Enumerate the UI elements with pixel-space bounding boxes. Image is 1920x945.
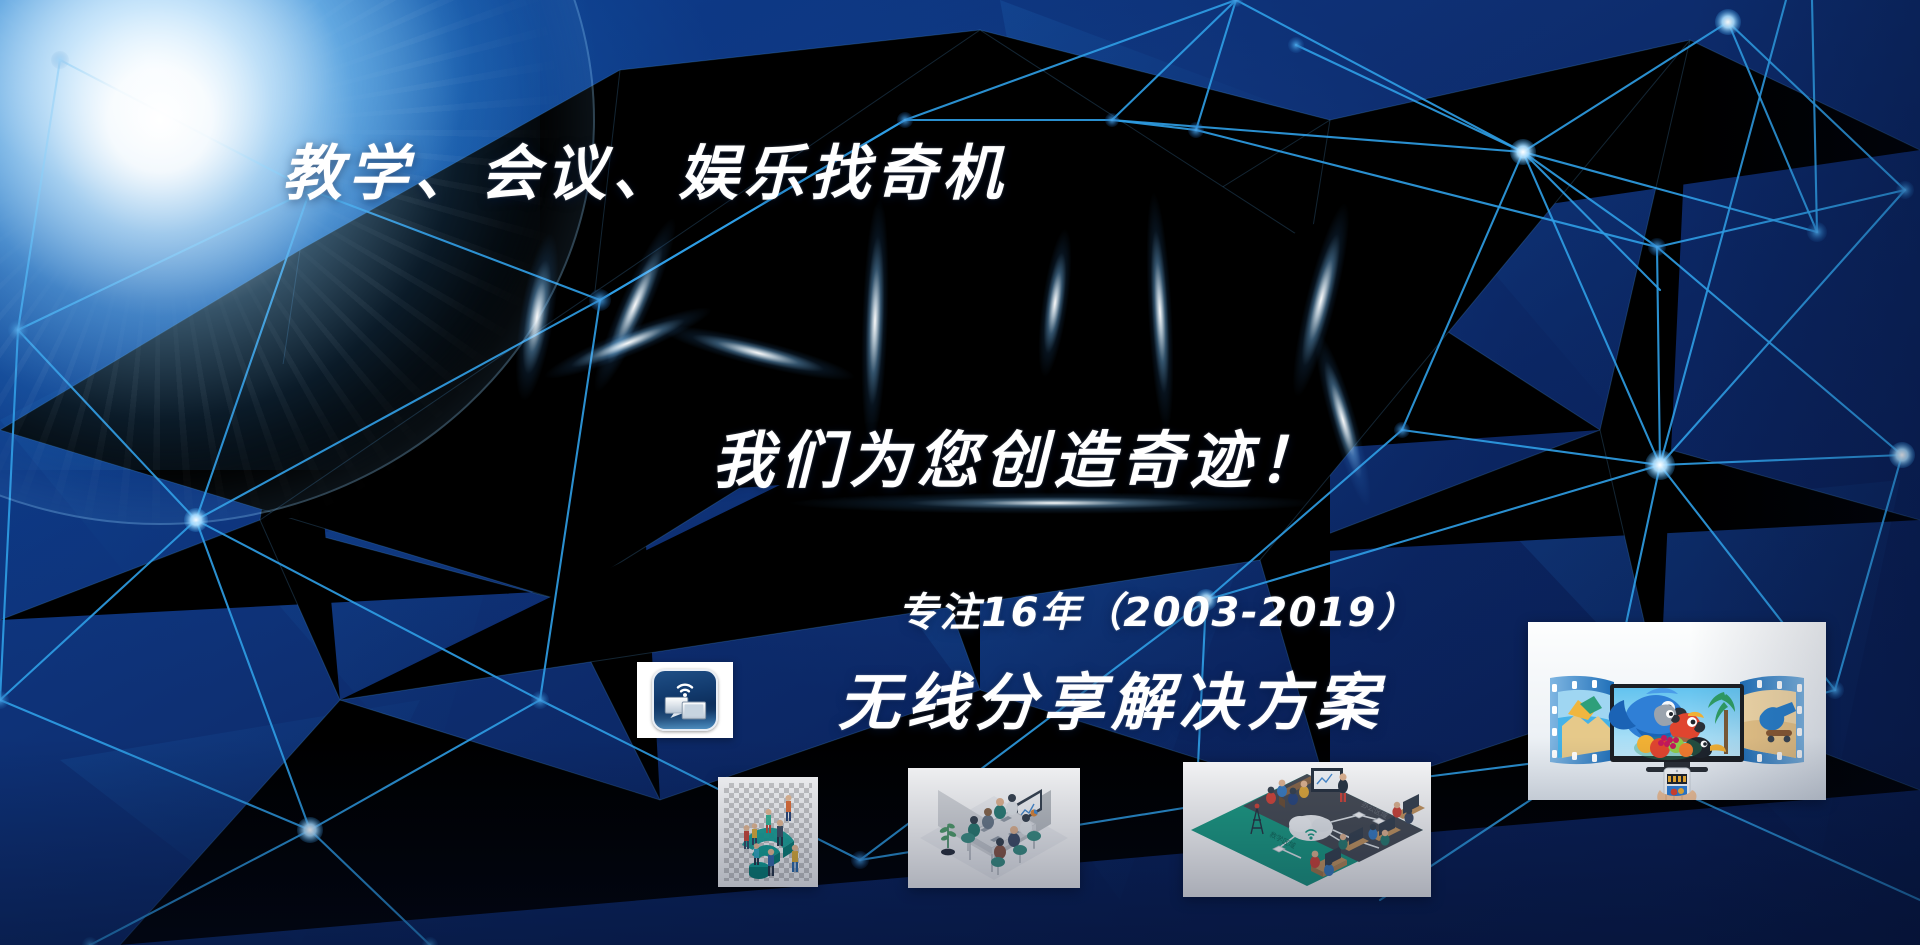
wireless-screen-share-icon[interactable]	[637, 662, 733, 738]
screen-share-glyph	[654, 671, 716, 729]
meeting-room-illustration	[908, 768, 1080, 888]
tv-media-share-illustration	[1528, 622, 1826, 800]
thumbnail-wifi-people[interactable]	[718, 777, 818, 887]
thumbnail-tv-media-share[interactable]	[1528, 622, 1826, 800]
solution-title: 无线分享解决方案	[838, 652, 1384, 742]
campus-network-illustration: 教学区域 办公区域	[1183, 762, 1431, 897]
wifi-people-illustration	[724, 783, 812, 881]
thumbnail-meeting-room[interactable]	[908, 768, 1080, 888]
years-text: 专注16年（2003-2019）	[898, 580, 1419, 638]
icon-tile	[652, 669, 718, 731]
tagline-text: 我们为您创造奇迹！	[712, 410, 1326, 500]
thumbnail-campus-network[interactable]: 教学区域 办公区域	[1183, 762, 1431, 897]
transparency-checker	[724, 783, 812, 881]
promo-banner: 教学、会议、娱乐找奇机 我们为您创造奇迹！ 专注16年（2003-2019） 无…	[0, 0, 1920, 945]
headline-title: 教学、会议、娱乐找奇机	[282, 125, 1008, 212]
